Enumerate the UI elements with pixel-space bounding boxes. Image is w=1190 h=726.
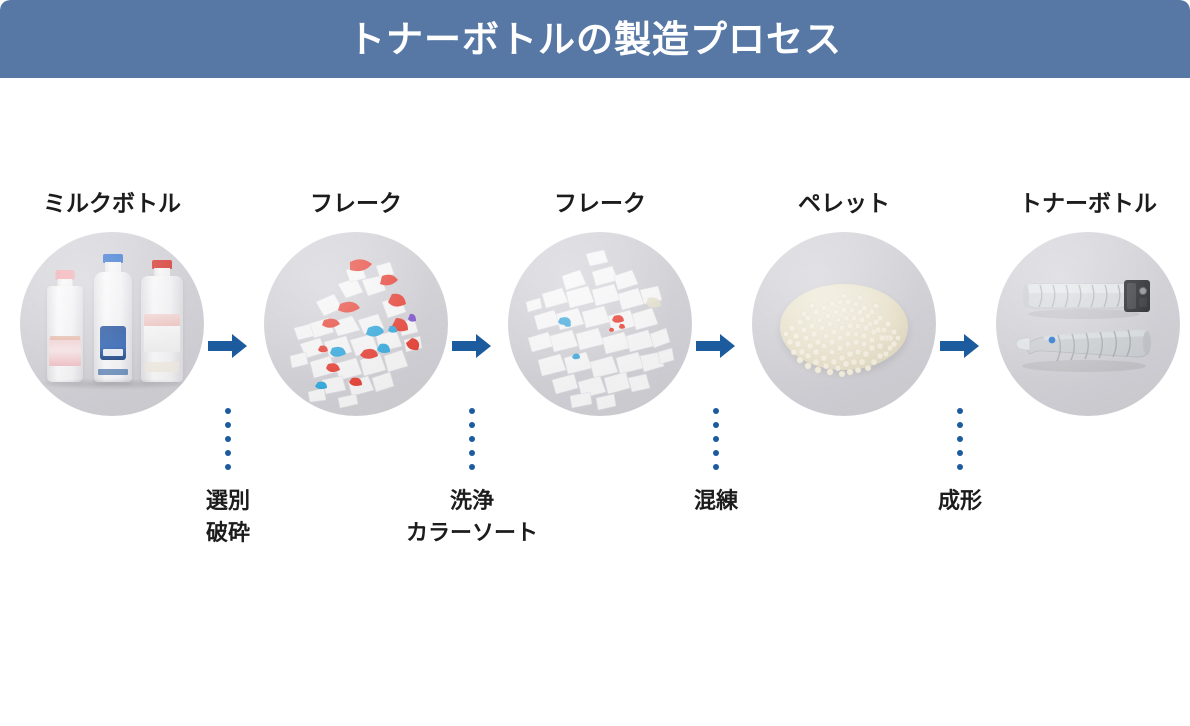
stage-pellets: ペレット <box>744 193 944 416</box>
process-label-wash-colorsort: 洗浄 カラーソート <box>372 486 572 550</box>
photo-pellets <box>752 232 936 416</box>
stage-label-flakes-colored: フレーク <box>256 193 456 216</box>
stage-flakes-washed: フレーク <box>500 193 700 416</box>
arrow-right-icon-2 <box>452 333 492 359</box>
stage-label-pellets: ペレット <box>744 193 944 216</box>
connector-dot <box>713 450 719 456</box>
dotted-connector-1 <box>128 408 328 470</box>
stage-label-milk-bottles: ミルクボトル <box>12 193 212 216</box>
milk-bottle-red <box>140 260 184 382</box>
connector-dot <box>957 408 963 414</box>
process-label-line: 混練 <box>616 486 816 518</box>
connector-dot <box>957 422 963 428</box>
washed-flakes-illustration <box>508 232 692 416</box>
milk-bottle-blue <box>93 254 133 382</box>
process-label-compound: 混練 <box>616 486 816 518</box>
arrow-right-icon-1 <box>208 333 248 359</box>
connector-dot <box>225 450 231 456</box>
process-label-line: 洗浄 <box>372 486 572 518</box>
connector-dot <box>469 436 475 442</box>
process-diagram-card: トナーボトルの製造プロセス ミルクボトル <box>0 0 1190 726</box>
pellets-illustration <box>752 232 936 416</box>
photo-flakes-colored <box>264 232 448 416</box>
process-mold: 成形 <box>860 408 1060 518</box>
connector-dot <box>713 422 719 428</box>
dotted-connector-3 <box>616 408 816 470</box>
toner-bottles-svg <box>996 232 1180 416</box>
process-label-sort-crush: 選別 破砕 <box>128 486 328 550</box>
process-wash-colorsort: 洗浄 カラーソート <box>372 408 572 550</box>
process-flow: ミルクボトル <box>0 78 1190 726</box>
process-compound: 混練 <box>616 408 816 518</box>
connector-dot <box>225 464 231 470</box>
milk-bottles-illustration <box>20 232 204 416</box>
colored-flakes-illustration <box>264 232 448 416</box>
connector-dot <box>713 436 719 442</box>
process-label-line: 選別 <box>128 486 328 518</box>
connector-dot <box>957 450 963 456</box>
stage-toner-bottles: トナーボトル <box>988 193 1188 416</box>
connector-dot <box>957 464 963 470</box>
arrow-right-icon-4 <box>940 333 980 359</box>
process-label-line: 成形 <box>860 486 1060 518</box>
dotted-connector-4 <box>860 408 1060 470</box>
connector-dot <box>225 408 231 414</box>
photo-flakes-washed <box>508 232 692 416</box>
process-sort-crush: 選別 破砕 <box>128 408 328 550</box>
connector-dot <box>957 436 963 442</box>
milk-bottle-pink <box>46 270 84 382</box>
pellets-svg <box>752 232 936 416</box>
process-label-mold: 成形 <box>860 486 1060 518</box>
dotted-connector-2 <box>372 408 572 470</box>
photo-milk-bottles <box>20 232 204 416</box>
connector-dot <box>469 450 475 456</box>
stage-flakes-colored: フレーク <box>256 193 456 416</box>
connector-dot <box>225 422 231 428</box>
process-label-line: カラーソート <box>372 518 572 550</box>
toner-bottles-illustration <box>996 232 1180 416</box>
connector-dot <box>469 422 475 428</box>
flakes-colored-svg <box>264 232 448 416</box>
connector-dot <box>469 464 475 470</box>
process-label-line: 破砕 <box>128 518 328 550</box>
connector-dot <box>469 408 475 414</box>
arrow-right-icon-3 <box>696 333 736 359</box>
connector-dot <box>225 436 231 442</box>
header-bar: トナーボトルの製造プロセス <box>0 0 1190 78</box>
stage-label-flakes-washed: フレーク <box>500 193 700 216</box>
connector-dot <box>713 464 719 470</box>
connector-dot <box>713 408 719 414</box>
photo-toner-bottles <box>996 232 1180 416</box>
stage-label-toner-bottles: トナーボトル <box>988 193 1188 216</box>
stage-milk-bottles: ミルクボトル <box>12 193 212 416</box>
page-title: トナーボトルの製造プロセス <box>348 21 842 58</box>
flakes-washed-svg <box>508 232 692 416</box>
